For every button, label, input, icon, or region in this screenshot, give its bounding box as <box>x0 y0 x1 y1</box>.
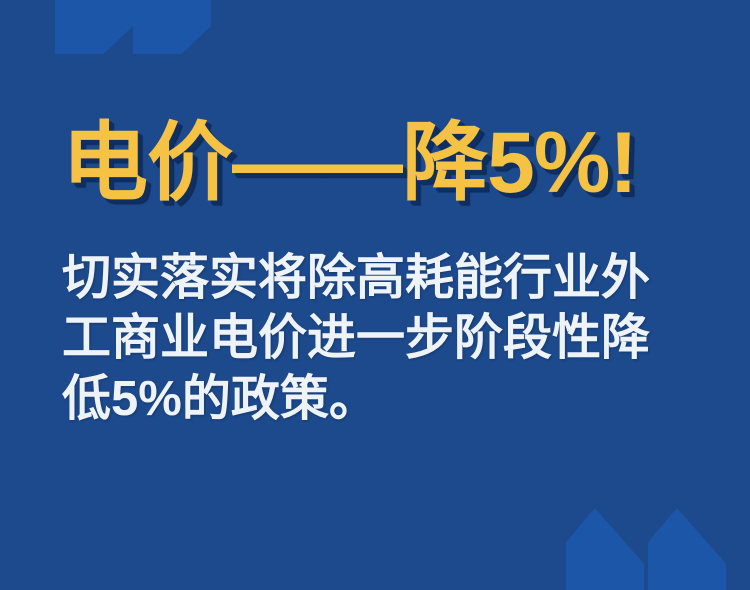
chevron-arrow-icon-bottom-right-2 <box>648 508 726 590</box>
page-title: 电价——降5%! <box>62 0 688 208</box>
policy-description-text: 切实落实将除高耗能行业外工商业电价进一步阶段性降低5%的政策。 <box>62 208 688 430</box>
poster-canvas: 电价——降5%! 切实落实将除高耗能行业外工商业电价进一步阶段性降低5%的政策。 <box>0 0 750 590</box>
poster-content: 电价——降5%! 切实落实将除高耗能行业外工商业电价进一步阶段性降低5%的政策。 <box>0 0 750 430</box>
chevron-arrow-icon-bottom-right-1 <box>566 508 644 590</box>
